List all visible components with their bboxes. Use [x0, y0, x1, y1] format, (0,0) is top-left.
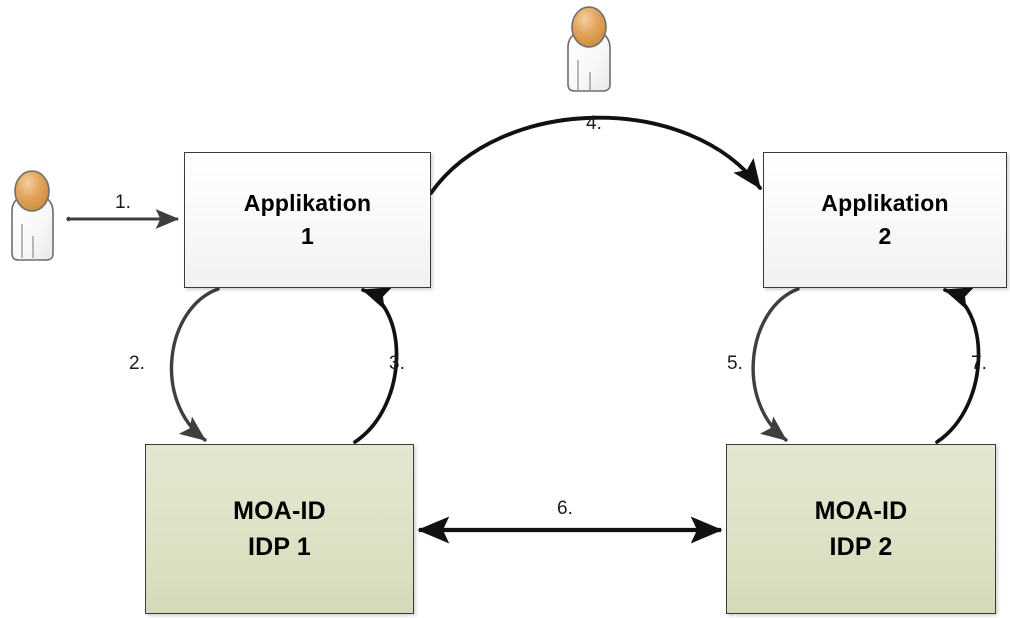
node-app2-line1: Applikation: [821, 187, 948, 220]
node-app1-line1: Applikation: [244, 187, 371, 220]
actor-person-icon-left: [12, 171, 53, 260]
node-idp2[interactable]: MOA-ID IDP 2: [726, 444, 996, 614]
node-app1-line2: 1: [301, 220, 314, 253]
node-idp1[interactable]: MOA-ID IDP 1: [145, 444, 414, 614]
edge-step-5: [753, 289, 798, 440]
edge-label-step-5: 5.: [727, 353, 743, 375]
node-app1[interactable]: Applikation 1: [184, 152, 431, 288]
actor-person-icon-top: [568, 7, 610, 91]
edge-label-step-1: 1.: [115, 192, 131, 214]
edge-label-step-7: 7.: [971, 353, 987, 375]
edge-label-step-6: 6.: [557, 498, 573, 520]
node-idp2-line2: IDP 2: [829, 529, 892, 565]
node-app2[interactable]: Applikation 2: [763, 152, 1007, 288]
node-idp1-line2: IDP 1: [248, 529, 311, 565]
node-idp1-line1: MOA-ID: [233, 493, 326, 529]
edge-step-2: [171, 289, 218, 440]
diagram-canvas: Applikation 1 Applikation 2 MOA-ID IDP 1…: [0, 0, 1010, 618]
edge-label-step-2: 2.: [129, 353, 145, 375]
edge-label-step-3: 3.: [389, 353, 405, 375]
edge-label-step-4: 4.: [586, 113, 602, 135]
node-idp2-line1: MOA-ID: [815, 493, 908, 529]
node-app2-line2: 2: [879, 220, 892, 253]
edge-step-1: [66, 217, 178, 221]
